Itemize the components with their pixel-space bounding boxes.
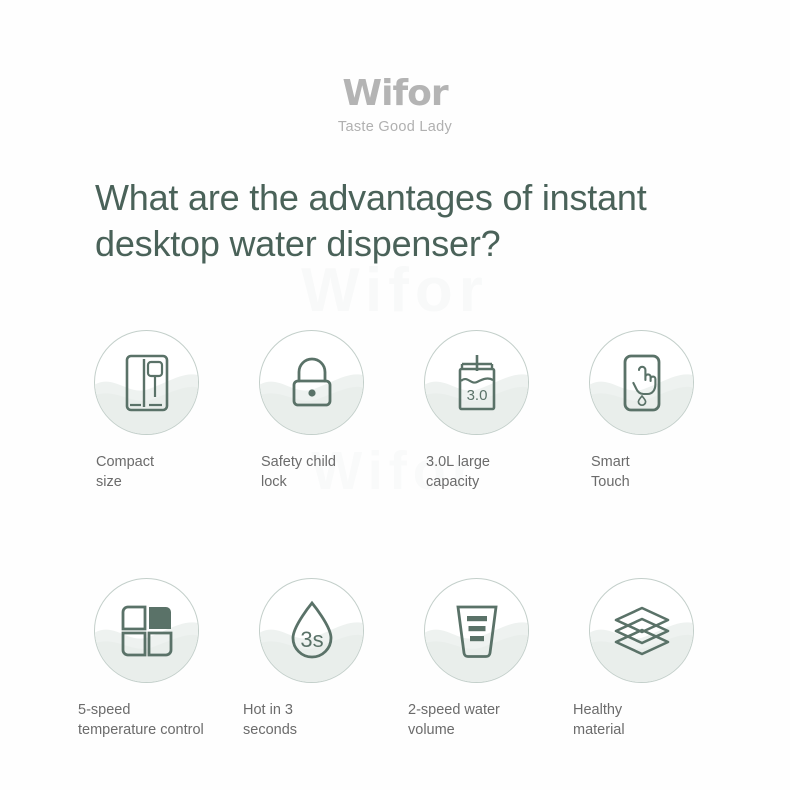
feature-item-safety-child-lock: Safety child lock	[243, 330, 408, 492]
feature-icon-circle	[589, 330, 694, 435]
capacity-value: 3.0	[466, 387, 487, 404]
feature-caption: Compact size	[96, 453, 243, 492]
feature-caption-line1: 2-speed water	[408, 701, 573, 721]
feature-caption: Safety child lock	[261, 453, 408, 492]
feature-caption-line1: Compact	[96, 453, 243, 473]
water-droplet-icon: 3s	[260, 579, 363, 682]
feature-caption-line2: temperature control	[78, 721, 243, 741]
feature-item-capacity: 3.0 3.0L large capacity	[408, 330, 573, 492]
feature-caption-line1: 5-speed	[78, 701, 243, 721]
brand-wordmark: Wifor	[342, 76, 447, 112]
feature-caption-line1: Healthy	[573, 701, 738, 721]
feature-caption: Hot in 3 seconds	[243, 701, 408, 740]
stacked-layers-icon	[590, 579, 693, 682]
feature-icon-circle	[259, 330, 364, 435]
feature-icon-circle: 3.0	[424, 330, 529, 435]
feature-grid: Compact size Safety c	[78, 330, 723, 740]
brand-tagline: Taste Good Lady	[0, 119, 790, 135]
padlock-icon	[260, 331, 363, 434]
feature-item-hot-in-3-seconds: 3s Hot in 3 seconds	[243, 578, 408, 740]
water-dispenser-icon	[95, 331, 198, 434]
page-title: What are the advantages of instant deskt…	[95, 175, 655, 267]
feature-caption-line1: Safety child	[261, 453, 408, 473]
feature-icon-circle	[94, 330, 199, 435]
feature-icon-circle	[589, 578, 694, 683]
feature-item-healthy-material: Healthy material	[573, 578, 738, 740]
infographic-page: Wifor Wifor Wifor Taste Good Lady What a…	[0, 0, 790, 790]
feature-item-compact-size: Compact size	[78, 330, 243, 492]
feature-caption-line2: seconds	[243, 721, 408, 741]
feature-caption: Smart Touch	[591, 453, 738, 492]
feature-caption: 2-speed water volume	[408, 701, 573, 740]
feature-icon-circle: 3s	[259, 578, 364, 683]
water-tank-icon: 3.0	[425, 331, 528, 434]
feature-caption-line1: 3.0L large	[426, 453, 573, 473]
feature-item-smart-touch: Smart Touch	[573, 330, 738, 492]
feature-item-water-volume: 2-speed water volume	[408, 578, 573, 740]
feature-caption-line2: material	[573, 721, 738, 741]
touch-panel-icon	[590, 331, 693, 434]
feature-caption: 5-speed temperature control	[78, 701, 243, 740]
grid-four-squares-icon	[95, 579, 198, 682]
droplet-value: 3s	[300, 627, 323, 652]
feature-caption-line2: lock	[261, 473, 408, 493]
feature-caption: Healthy material	[573, 701, 738, 740]
feature-caption-line2: Touch	[591, 473, 738, 493]
feature-caption-line2: volume	[408, 721, 573, 741]
feature-caption: 3.0L large capacity	[426, 453, 573, 492]
feature-caption-line1: Hot in 3	[243, 701, 408, 721]
feature-icon-circle	[94, 578, 199, 683]
feature-caption-line1: Smart	[591, 453, 738, 473]
feature-item-temperature-control: 5-speed temperature control	[78, 578, 243, 740]
brand-logo: Wifor Taste Good Lady	[0, 76, 790, 135]
feature-caption-line2: capacity	[426, 473, 573, 493]
feature-caption-line2: size	[96, 473, 243, 493]
feature-icon-circle	[424, 578, 529, 683]
cup-levels-icon	[425, 579, 528, 682]
